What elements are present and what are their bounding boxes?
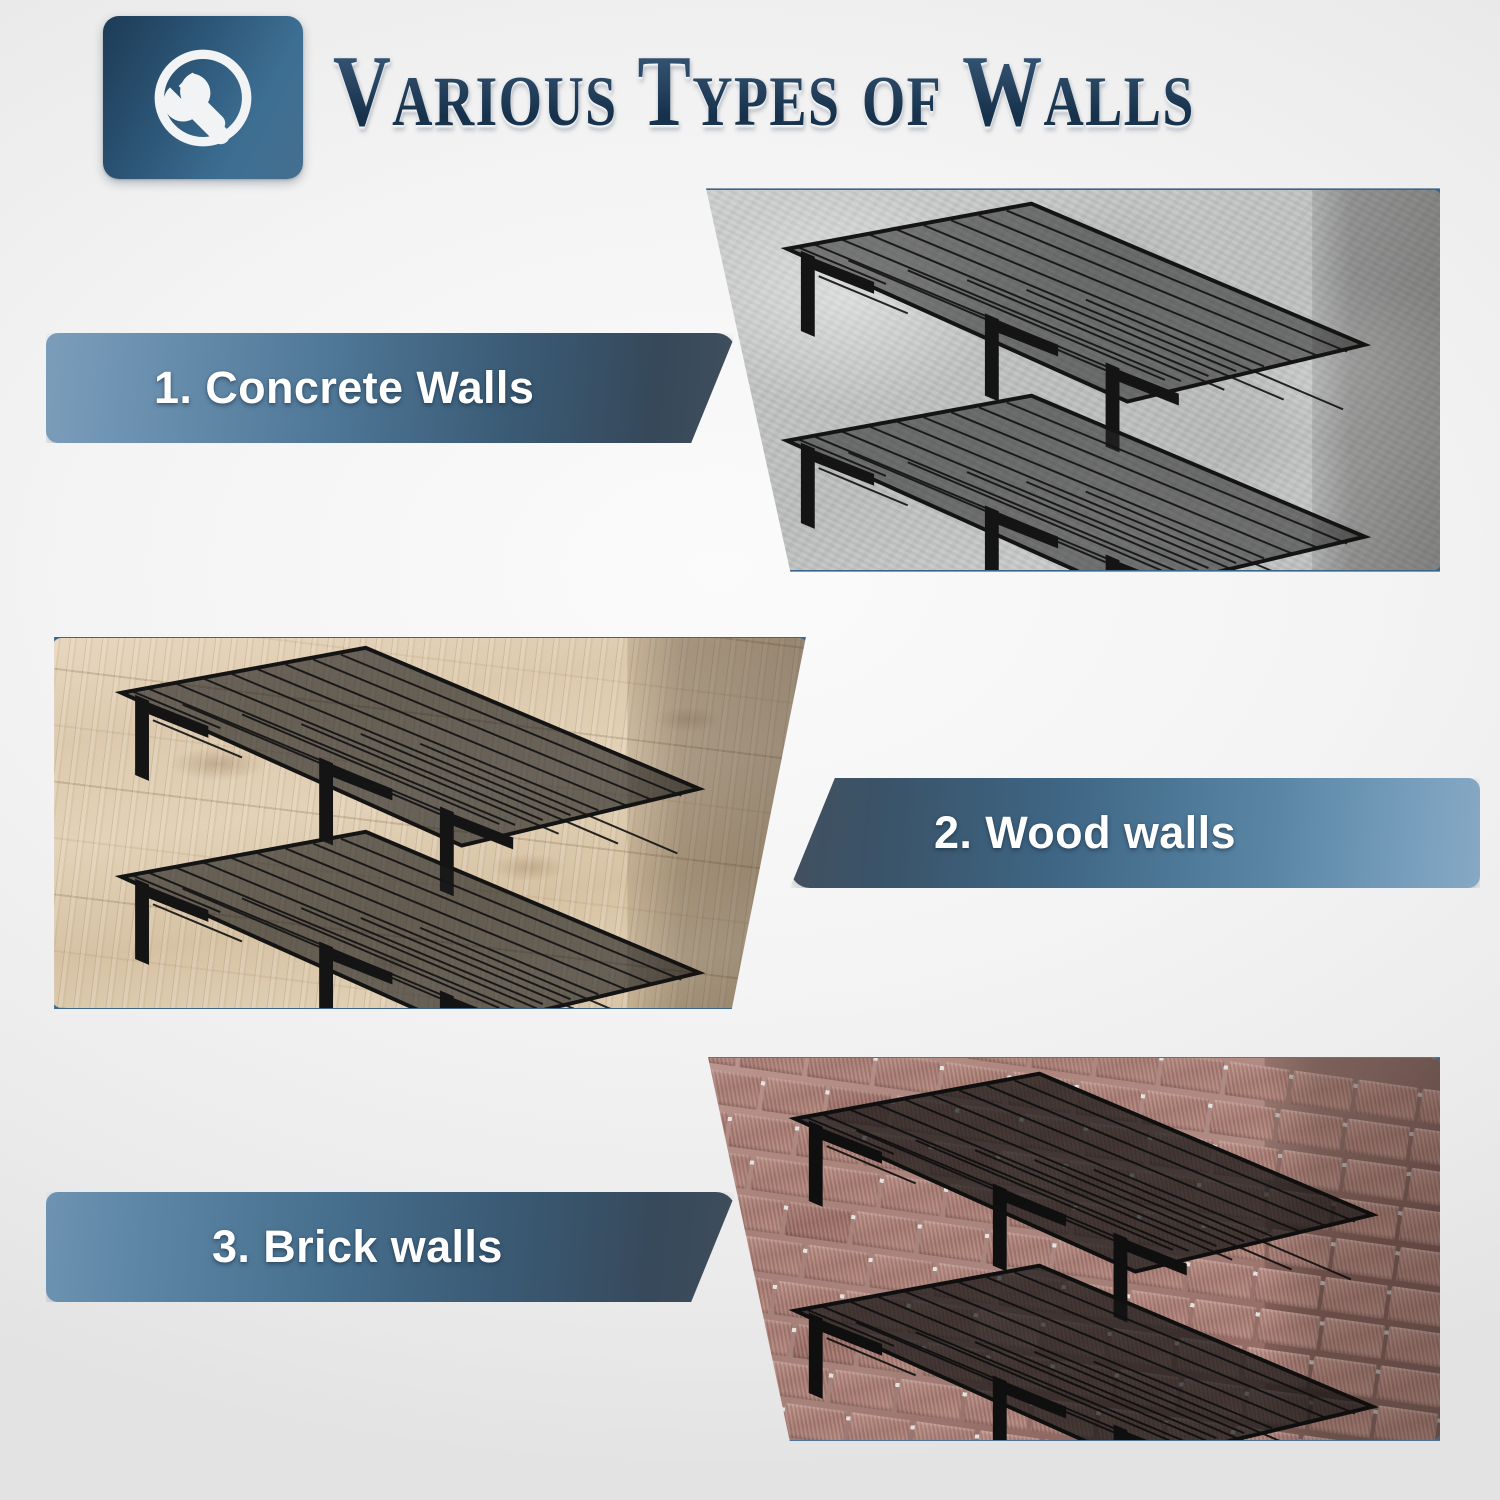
section-label-wood: 2. Wood walls	[934, 807, 1236, 859]
wall-corner-shading	[627, 638, 808, 1008]
section-banner-wood[interactable]: 2. Wood walls	[790, 778, 1480, 888]
page-header: Various Types of Walls	[0, 0, 1500, 195]
brick-unit	[696, 1430, 752, 1444]
brick-unit	[696, 1385, 718, 1427]
wall-corner-shading	[1264, 1058, 1442, 1440]
wall-corner-shading	[1312, 190, 1442, 570]
page-title-text: Various Types of Walls	[333, 32, 1195, 150]
page-title: Various Types of Walls	[333, 36, 1413, 146]
photo-panel-wood	[48, 634, 812, 1012]
section-banner-concrete[interactable]: 1. Concrete Walls	[46, 333, 736, 443]
photo-panel-concrete	[694, 186, 1446, 574]
section-label-concrete: 1. Concrete Walls	[154, 362, 534, 414]
photo-panel-brick	[696, 1054, 1446, 1444]
brick-unit	[696, 1350, 763, 1393]
section-banner-brick[interactable]: 3. Brick walls	[46, 1192, 736, 1302]
wrench-in-circle-icon	[103, 16, 303, 179]
section-label-brick: 3. Brick walls	[212, 1221, 503, 1273]
brick-unit	[696, 1305, 729, 1347]
brick-unit	[717, 1394, 782, 1436]
